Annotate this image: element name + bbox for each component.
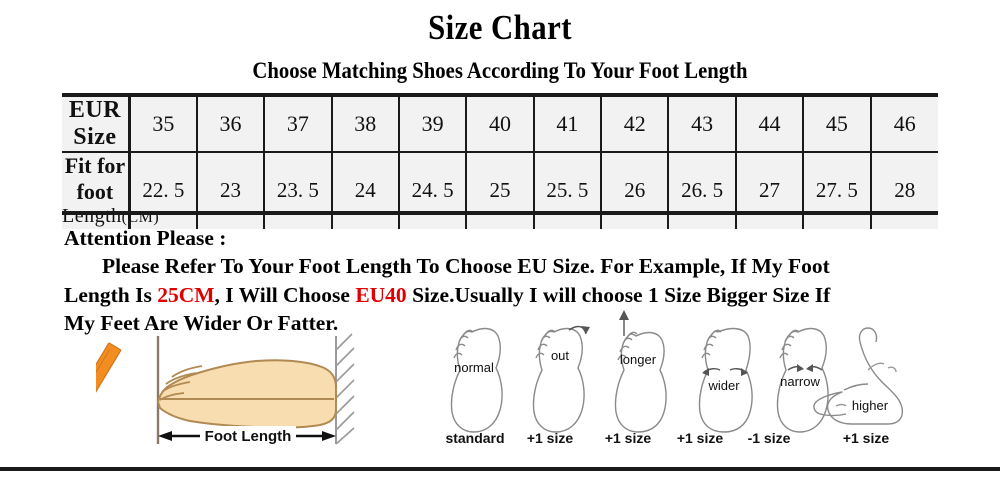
foot-measure-illustration: Foot Length [96,332,366,454]
foot-type-size-label-1: +1 size [510,430,590,446]
cell-length-3: 24 [332,152,399,229]
attention-line3-part-a: Length Is [64,283,157,307]
cell-size-5: 40 [466,97,533,152]
bottom-divider [0,467,1000,471]
size-chart-table: EUR Size 35 36 37 38 39 40 41 42 43 44 4… [62,97,938,229]
cell-length-2: 23. 5 [264,152,331,229]
foot-outline-normal [451,329,502,432]
foot-type-inner-label-1: out [551,348,569,363]
attention-line-3: Length Is 25CM, I Will Choose EU40 Size.… [64,281,944,309]
pencil-icon [96,343,121,415]
foot-length-label-line1: Fit for foot [62,153,128,205]
cell-size-4: 39 [399,97,466,152]
cell-length-8: 26. 5 [668,152,735,229]
highlight-eu-size: EU40 [355,283,406,307]
cell-size-2: 37 [264,97,331,152]
foot-type-inner-label-4: narrow [780,374,820,389]
row-header-eur-size: EUR Size [62,97,129,152]
foot-type-size-label-0: standard [432,430,518,446]
attention-line-2: Please Refer To Your Foot Length To Choo… [64,252,944,280]
cell-size-9: 44 [736,97,803,152]
table-row-eur-size: EUR Size 35 36 37 38 39 40 41 42 43 44 4… [62,97,938,152]
cell-size-3: 38 [332,97,399,152]
attention-line3-part-b: , I Will Choose [215,283,356,307]
cell-size-11: 46 [871,97,939,152]
cell-size-7: 42 [601,97,668,152]
foot-type-inner-label-3: wider [707,378,740,393]
foot-type-inner-label-0: normal [454,360,494,375]
cell-length-11: 28 [871,152,939,229]
cell-size-1: 36 [197,97,264,152]
table-bottom-border [62,211,938,215]
cell-size-0: 35 [129,97,196,152]
attention-heading: Attention Please : [64,224,944,252]
highlight-foot-length: 25CM [157,283,214,307]
wall-hatching-icon [336,334,354,444]
foot-length-caption: Foot Length [205,428,292,445]
row-header-foot-length: Fit for foot Length(CM) [62,152,129,229]
cell-size-8: 43 [668,97,735,152]
foot-type-size-label-4: -1 size [730,430,808,446]
page-subtitle: Choose Matching Shoes According To Your … [50,58,950,84]
cell-length-10: 27. 5 [803,152,870,229]
cell-length-7: 26 [601,152,668,229]
table-row-foot-length: Fit for foot Length(CM) 22. 5 23 23. 5 2… [62,152,938,229]
cell-length-9: 27 [736,152,803,229]
page-title: Size Chart [60,8,940,48]
foot-type-size-label-2: +1 size [588,430,668,446]
foot-outline-out [533,326,590,432]
cell-length-1: 23 [197,152,264,229]
cell-length-4: 24. 5 [399,152,466,229]
foot-type-size-label-5: +1 size [826,430,906,446]
cell-length-5: 25 [466,152,533,229]
cell-size-6: 41 [534,97,601,152]
cell-size-10: 45 [803,97,870,152]
attention-line3-part-c: Size.Usually I will choose 1 Size Bigger… [407,283,831,307]
foot-type-size-label-3: +1 size [660,430,740,446]
foot-outline-longer [615,310,666,432]
foot-type-inner-label-2: longer [620,352,657,367]
foot-type-inner-label-5: higher [852,398,889,413]
cell-length-6: 25. 5 [534,152,601,229]
